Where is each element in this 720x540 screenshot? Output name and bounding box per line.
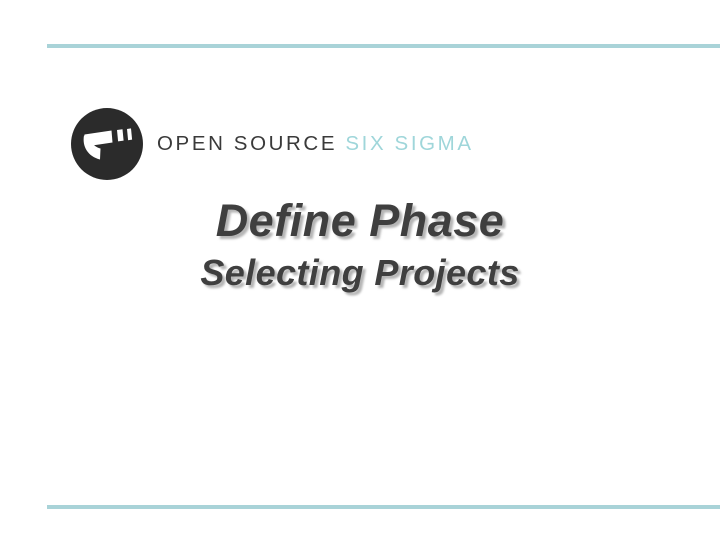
top-divider <box>47 44 720 48</box>
page-title: Define Phase <box>0 196 720 246</box>
open-source-six-sigma-logo-icon <box>71 108 143 180</box>
brand-lockup: OPEN SOURCE SIX SIGMA <box>71 108 474 180</box>
bottom-divider <box>47 505 720 509</box>
slide-canvas: OPEN SOURCE SIX SIGMA Define Phase Selec… <box>0 0 720 540</box>
brand-wordmark-primary: OPEN SOURCE <box>157 132 337 155</box>
brand-wordmark: OPEN SOURCE SIX SIGMA <box>157 134 474 155</box>
brand-wordmark-accent: SIX SIGMA <box>345 132 473 155</box>
title-block: Define Phase Selecting Projects <box>0 196 720 294</box>
page-subtitle: Selecting Projects <box>0 252 720 293</box>
